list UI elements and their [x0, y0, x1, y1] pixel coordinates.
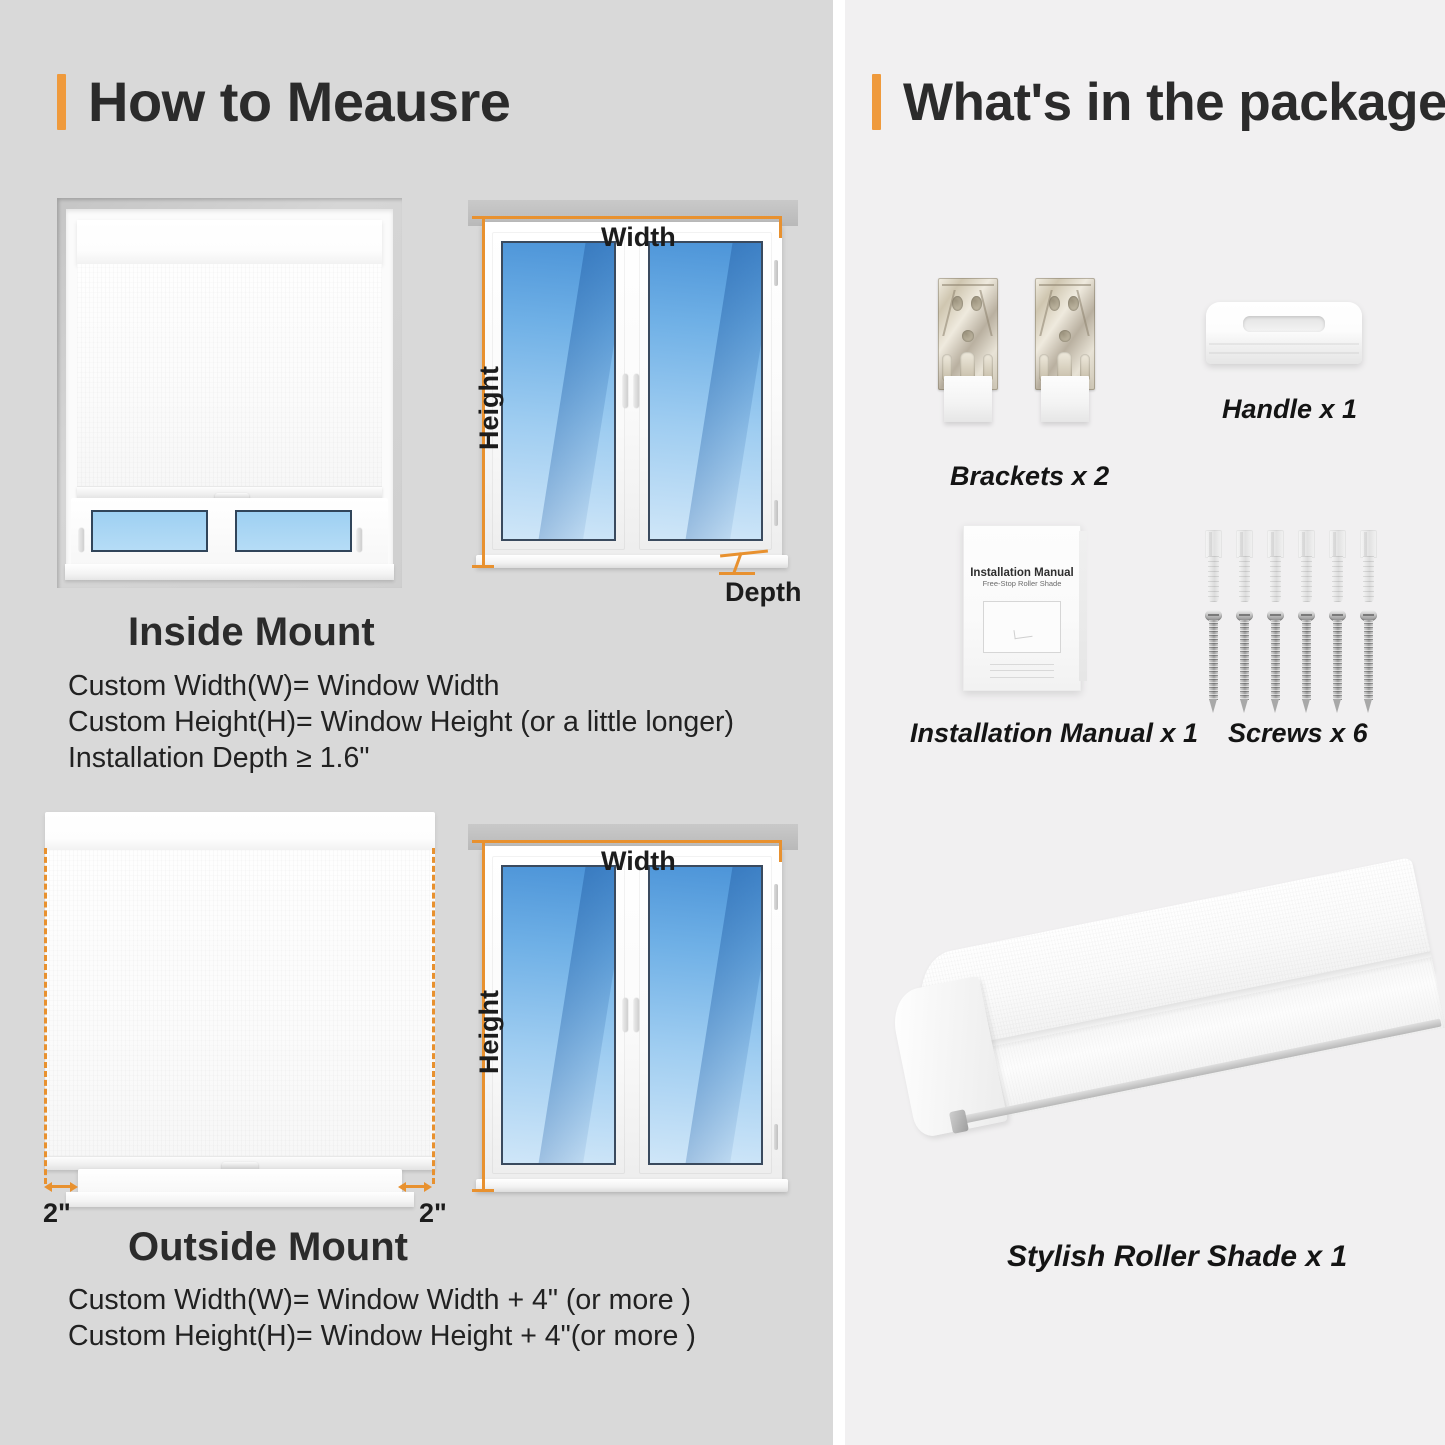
heading-text: How to Meausre	[88, 74, 510, 130]
overhang-guide-right	[432, 848, 435, 1184]
outside-mount-specs: Custom Width(W)= Window Width + 4" (or m…	[68, 1283, 696, 1355]
outside-spec-1: Custom Width(W)= Window Width + 4" (or m…	[68, 1283, 696, 1319]
hinge-bottom-icon	[774, 500, 778, 526]
manual-cover-figure-box	[983, 601, 1062, 652]
window-sash-left-2	[492, 856, 625, 1174]
height-label-2: Height	[474, 990, 505, 1074]
screw-icon-4	[1298, 610, 1315, 714]
window-sash-right	[639, 232, 772, 550]
how-to-measure-heading: How to Meausre	[57, 74, 510, 130]
overhang-label-right: 2"	[419, 1198, 447, 1229]
manual-cover-sketch	[1014, 628, 1033, 639]
window-pane-right-2	[648, 865, 763, 1165]
window-pane-left	[501, 241, 616, 541]
package-heading: What's in the package	[872, 74, 1445, 130]
window-sill	[65, 564, 394, 580]
overhang-label-left: 2"	[43, 1198, 71, 1229]
overhang-arrow-left	[44, 1182, 78, 1192]
handle-ridge-1	[1209, 343, 1359, 345]
outside-spec-2: Custom Height(H)= Window Height + 4"(or …	[68, 1319, 696, 1355]
sash-handle-left-icon-2	[623, 998, 628, 1032]
inside-spec-1: Custom Width(W)= Window Width	[68, 669, 734, 705]
accent-bar-icon	[57, 74, 66, 130]
width-measure-line-2	[482, 840, 782, 843]
sash-handle-left-icon	[623, 374, 628, 408]
bracket-plastic-base	[944, 376, 992, 422]
depth-label: Depth	[725, 577, 802, 608]
window-glass-left	[91, 510, 208, 552]
window-sash-right-2	[639, 856, 772, 1174]
shade-valance	[77, 220, 382, 265]
infographic-page: How to Meausre	[0, 0, 1445, 1445]
width-measure-line	[482, 216, 782, 219]
window-bottom-sill-2	[476, 1179, 788, 1192]
panel-divider	[833, 0, 845, 1445]
roller-shade-label: Stylish Roller Shade x 1	[1007, 1240, 1347, 1274]
outside-shade-fabric	[45, 850, 435, 1156]
manual-cover-title: Installation Manual	[964, 567, 1080, 579]
height-label: Height	[474, 366, 505, 450]
roller-shade-body	[881, 849, 1445, 1251]
inside-spec-3: Installation Depth ≥ 1.6"	[68, 741, 734, 777]
window-pane-right	[648, 241, 763, 541]
manual-cover-subtitle: Free-Stop Roller Shade	[964, 579, 1080, 588]
handle-label: Handle x 1	[1222, 394, 1357, 425]
screw-icon-5	[1329, 610, 1346, 714]
handle-ridge-2	[1209, 352, 1359, 354]
window-sash-left	[492, 232, 625, 550]
window-handle-right-icon	[357, 528, 362, 552]
screw-icon-1	[1205, 610, 1222, 714]
bracket-metal-body	[938, 278, 998, 390]
wall-anchor-group	[1205, 530, 1385, 580]
height-cap-bottom	[472, 565, 494, 568]
bracket-icon-2	[1035, 278, 1095, 423]
overhang-guide-left	[44, 848, 47, 1184]
window-glass-right	[235, 510, 352, 552]
inside-mount-shade-illustration	[57, 198, 402, 588]
wall-anchor-icon-1	[1205, 530, 1222, 602]
window-handle-left-icon	[79, 528, 84, 552]
overhang-arrow-right	[398, 1182, 432, 1192]
window-pane-left-2	[501, 865, 616, 1165]
manual-back-page	[1079, 531, 1087, 681]
width-label-2: Width	[601, 846, 676, 877]
shade-fabric	[77, 264, 382, 488]
handle-icon	[1206, 302, 1362, 364]
bracket-icon-1	[938, 278, 998, 423]
inside-mount-title: Inside Mount	[128, 610, 375, 655]
sash-handle-right-icon	[634, 374, 639, 408]
brackets-label: Brackets x 2	[950, 461, 1109, 492]
wall-anchor-icon-2	[1236, 530, 1253, 602]
roller-shade-icon	[905, 900, 1445, 1200]
hinge-bottom-icon-2	[774, 1124, 778, 1150]
manual-footer-line-1	[990, 664, 1055, 665]
screw-icon-3	[1267, 610, 1284, 714]
screw-icon-6	[1360, 610, 1377, 714]
screw-icon-2	[1236, 610, 1253, 714]
wall-anchor-icon-3	[1267, 530, 1284, 602]
height-cap-top-2	[472, 840, 494, 843]
height-cap-top	[472, 216, 494, 219]
wall-anchor-icon-4	[1298, 530, 1315, 602]
width-cap-right-2	[779, 840, 782, 862]
window-frame-2	[482, 846, 782, 1186]
width-label: Width	[601, 222, 676, 253]
bracket-metal-body-2	[1035, 278, 1095, 390]
manual-footer-line-2	[990, 670, 1055, 671]
inside-mount-window-diagram	[468, 200, 798, 578]
hinge-top-icon-2	[774, 884, 778, 910]
inside-mount-specs: Custom Width(W)= Window Width Custom Hei…	[68, 669, 734, 777]
accent-bar-icon-2	[872, 74, 881, 130]
outside-shade-valance	[45, 812, 435, 851]
bracket-plastic-base-2	[1041, 376, 1089, 422]
sash-handle-right-icon-2	[634, 998, 639, 1032]
height-cap-bottom-2	[472, 1189, 494, 1192]
outside-mount-shade-illustration	[40, 812, 440, 1202]
screws-label: Screws x 6	[1228, 718, 1368, 749]
inside-spec-2: Custom Height(H)= Window Height (or a li…	[68, 705, 734, 741]
manual-icon: Installation Manual Free-Stop Roller Sha…	[963, 525, 1081, 691]
manual-label: Installation Manual x 1	[910, 718, 1198, 749]
outside-mount-window-diagram	[468, 824, 798, 1202]
width-cap-right	[779, 216, 782, 238]
window-frame	[482, 222, 782, 562]
wall-anchor-icon-5	[1329, 530, 1346, 602]
screw-group	[1205, 610, 1385, 714]
hinge-top-icon	[774, 260, 778, 286]
outside-window-sill	[66, 1192, 414, 1207]
heading-text-2: What's in the package	[903, 76, 1445, 129]
handle-slot	[1243, 316, 1324, 332]
manual-footer-line-3	[990, 677, 1055, 678]
outside-mount-title: Outside Mount	[128, 1225, 408, 1270]
depth-tick-bottom	[719, 572, 755, 575]
wall-anchor-icon-6	[1360, 530, 1377, 602]
